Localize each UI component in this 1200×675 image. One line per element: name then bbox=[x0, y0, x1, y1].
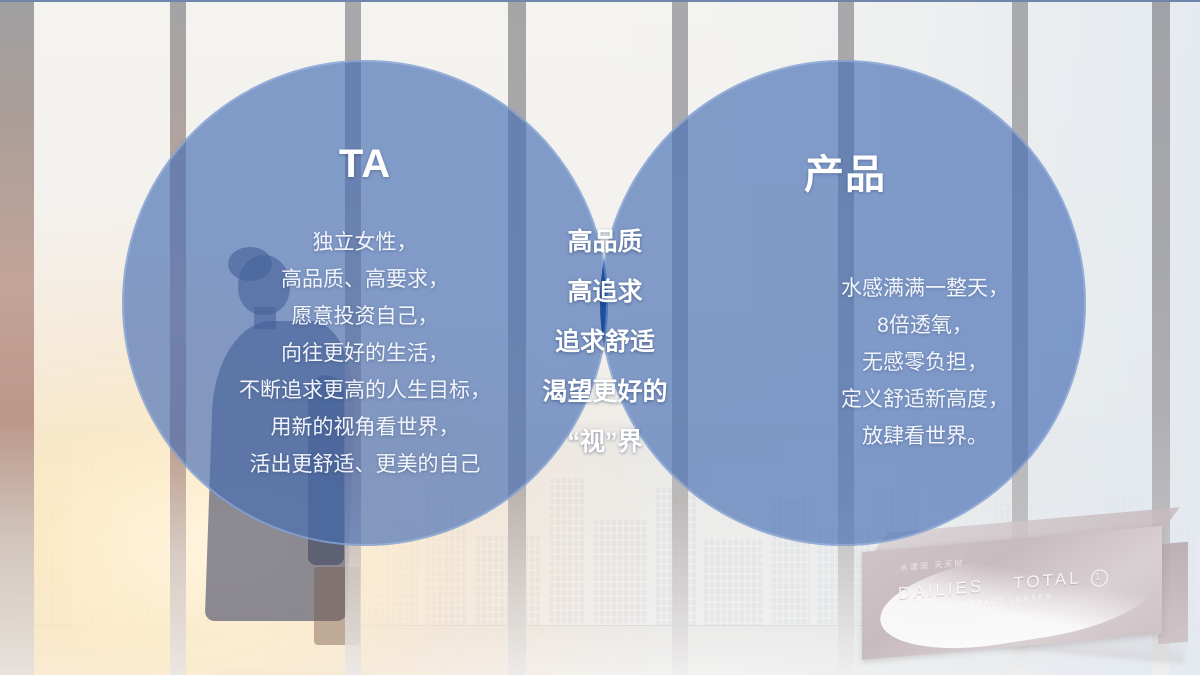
overlap-line: 高追求 bbox=[518, 267, 692, 317]
overlap-line: 追求舒适 bbox=[518, 317, 692, 367]
product-body-text: 水感满满一整天， 8倍透氧， 无感零负担， 定义舒适新高度， 放肆看世界。 bbox=[705, 270, 1145, 455]
overlap-line: 渴望更好的 bbox=[518, 367, 692, 417]
product-line: 8倍透氧， bbox=[705, 307, 1145, 344]
overlap-line: 高品质 bbox=[518, 217, 692, 267]
ta-heading: TA bbox=[268, 142, 462, 187]
product-line: 定义舒适新高度， bbox=[705, 381, 1145, 418]
product-heading: 产品 bbox=[730, 142, 960, 200]
overlap-line: “视”界 bbox=[518, 417, 692, 467]
product-line: 水感满满一整天， bbox=[705, 270, 1145, 307]
product-line: 无感零负担， bbox=[705, 344, 1145, 381]
presentation-slide: 水漾润 天天抛 DAILIES TOTAL 1 ONE-DAY CONTACT … bbox=[0, 0, 1200, 675]
overlap-body-text: 高品质 高追求 追求舒适 渴望更好的 “视”界 bbox=[518, 217, 692, 467]
product-line: 放肆看世界。 bbox=[705, 418, 1145, 455]
